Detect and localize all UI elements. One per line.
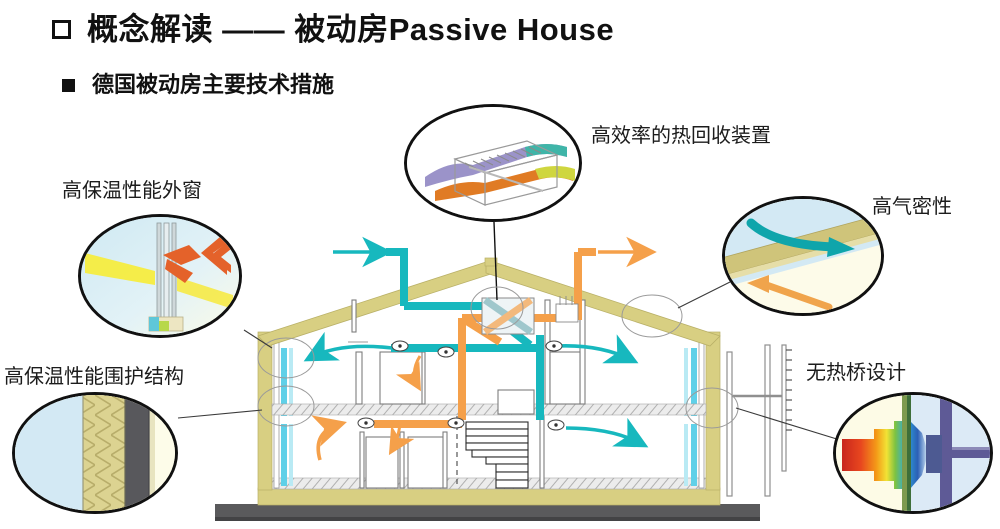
thermal-bridge-illustration	[836, 395, 993, 514]
label-thermal-bridge: 无热桥设计	[806, 356, 906, 385]
foundation-slab	[258, 478, 720, 505]
facade-glazing	[281, 348, 697, 486]
thermal-bridge-detail-bubble	[833, 392, 993, 514]
supply-air-duct-top-bend	[386, 252, 404, 262]
ground-line	[215, 504, 760, 521]
envelope-illustration	[15, 395, 178, 514]
window-illustration	[81, 217, 242, 338]
leader-envelope	[178, 410, 262, 418]
leader-airtightness	[678, 282, 730, 308]
window-detail-bubble	[78, 214, 242, 338]
label-heat-recovery: 高效率的热回收装置	[591, 119, 771, 148]
intermediate-floor-slab	[272, 404, 706, 415]
label-airtightness: 高气密性	[872, 190, 952, 219]
heat-recovery-bubble	[404, 104, 582, 222]
airtightness-illustration	[725, 199, 884, 316]
envelope-detail-bubble	[12, 392, 178, 514]
label-window: 高保温性能外窗	[62, 174, 202, 203]
heat-recovery-unit-section	[482, 296, 578, 334]
slide-root: 概念解读 —— 被动房Passive House 德国被动房主要技术措施	[0, 0, 1000, 529]
heat-recovery-illustration	[407, 107, 582, 222]
balcony-railing-detail	[727, 345, 792, 496]
airtightness-detail-bubble	[722, 196, 884, 316]
leader-thermal-bridge	[736, 408, 840, 440]
label-envelope: 高保温性能围护结构	[4, 360, 184, 389]
